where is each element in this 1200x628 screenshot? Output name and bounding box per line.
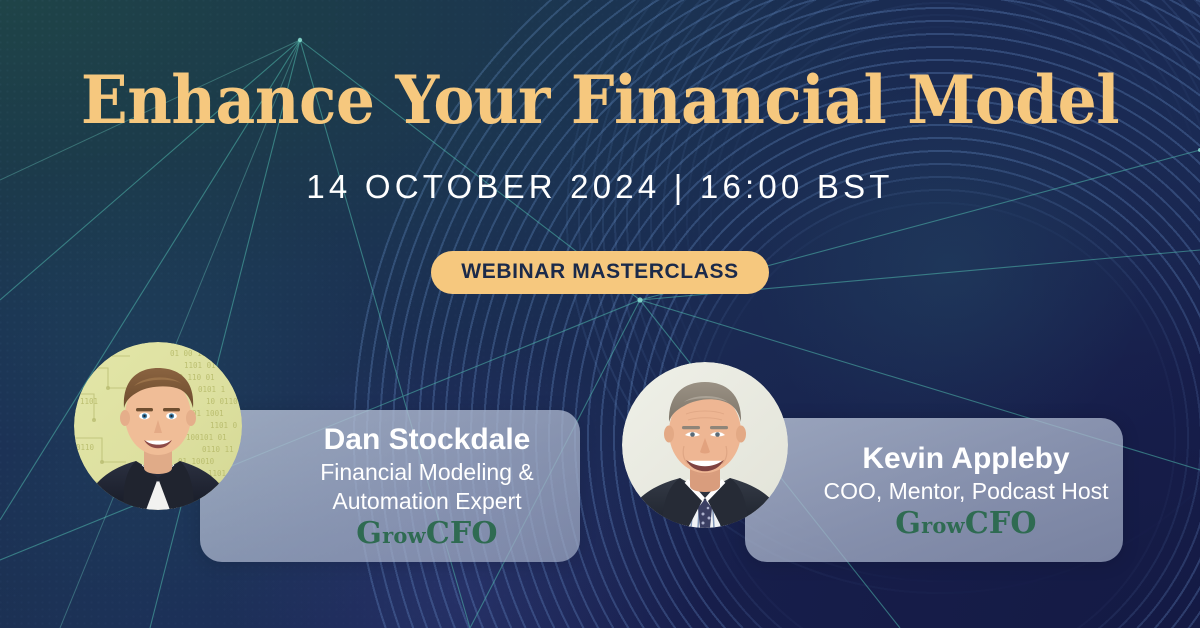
- event-datetime: 14 OCTOBER 2024 | 16:00 BST: [0, 168, 1200, 206]
- speaker-role-line-1: Financial Modeling &: [320, 458, 534, 487]
- speaker-card-dan-stockdale: Dan Stockdale Financial Modeling & Autom…: [200, 410, 580, 562]
- page-title: Enhance Your Financial Model: [42, 62, 1158, 138]
- growcfo-logo-g: G: [895, 506, 921, 541]
- svg-text:0101 1: 0101 1: [198, 385, 225, 394]
- growcfo-logo: GrowCFO: [895, 510, 1037, 540]
- growcfo-logo-cfo: CFO: [965, 506, 1037, 541]
- growcfo-logo: GrowCFO: [356, 520, 498, 550]
- growcfo-logo-row: row: [382, 523, 426, 548]
- status-badge: WEBINAR MASTERCLASS: [431, 251, 768, 294]
- avatar-dan-stockdale-image: 01 00 11011101 01 00 110 010101 1 10 011…: [74, 342, 242, 510]
- webinar-promo-banner: Enhance Your Financial Model 14 OCTOBER …: [0, 0, 1200, 628]
- speaker-name: Dan Stockdale: [324, 422, 531, 458]
- svg-text:1101 01: 1101 01: [184, 361, 216, 370]
- svg-text:0110: 0110: [76, 443, 95, 452]
- svg-text:01 1001: 01 1001: [192, 409, 224, 418]
- avatar-kevin-appleby: [622, 362, 788, 528]
- svg-text:10 0110: 10 0110: [206, 397, 238, 406]
- svg-text:0110 11: 0110 11: [202, 445, 234, 454]
- avatar-dan-stockdale: 01 00 11011101 01 00 110 010101 1 10 011…: [74, 342, 242, 510]
- svg-text:1101 0: 1101 0: [210, 421, 238, 430]
- speaker-role-line-2: Automation Expert: [332, 487, 521, 516]
- growcfo-logo-cfo: CFO: [426, 516, 498, 551]
- growcfo-logo-g: G: [356, 516, 382, 551]
- speaker-name: Kevin Appleby: [862, 441, 1069, 477]
- growcfo-logo-row: row: [921, 513, 965, 538]
- svg-text:100101 01: 100101 01: [186, 433, 227, 442]
- svg-text:1101: 1101: [80, 397, 98, 406]
- speaker-role-line-1: COO, Mentor, Podcast Host: [823, 477, 1108, 506]
- avatar-kevin-appleby-image: [622, 362, 788, 528]
- badge-container: WEBINAR MASTERCLASS: [0, 251, 1200, 294]
- speaker-card-kevin-appleby: Kevin Appleby COO, Mentor, Podcast Host …: [745, 418, 1123, 562]
